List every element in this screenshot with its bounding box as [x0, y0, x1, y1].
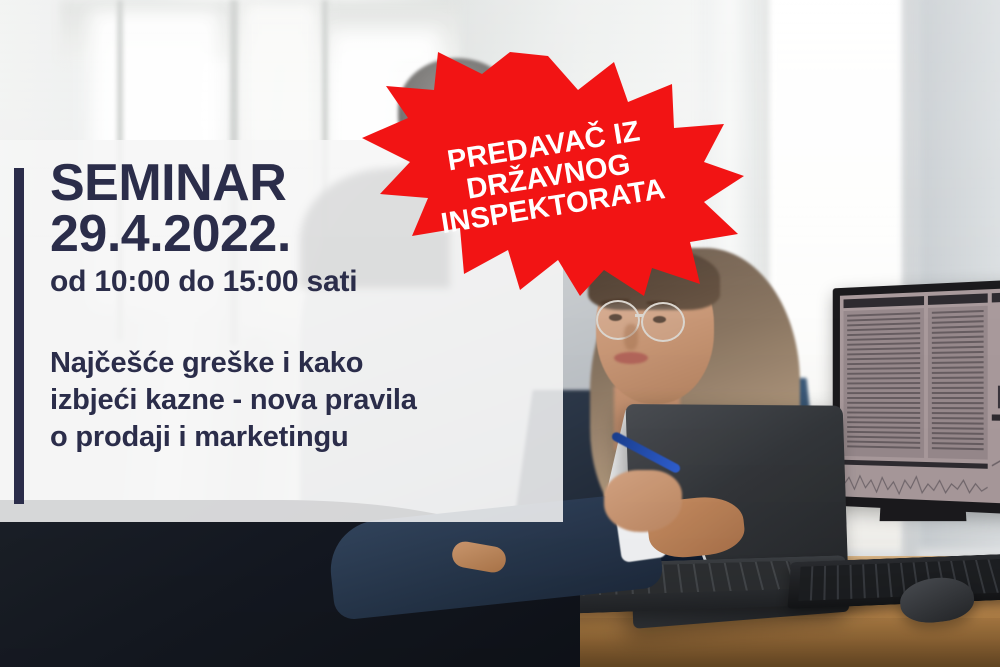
monitor-stand [880, 507, 967, 521]
promo-banner: SEMINAR 29.4.2022. od 10:00 do 15:00 sat… [0, 0, 1000, 667]
woman-hand [604, 470, 682, 532]
eyeglasses-lens-right [641, 302, 685, 342]
starburst-badge: PREDAVAČ IZ DRŽAVNOG INSPEKTORATA [352, 52, 744, 296]
accent-bar [14, 168, 24, 504]
eyeglasses-bridge [635, 314, 643, 317]
woman-lips [614, 352, 648, 364]
seminar-subtitle: Najčešće greške i kako izbjeći kazne - n… [50, 345, 545, 456]
woman-nose [624, 324, 638, 350]
monitor-sparkline [844, 474, 988, 497]
monitor-charts [833, 279, 1000, 514]
monitor-line-chart [992, 433, 1000, 472]
starburst-shape [362, 52, 744, 296]
monitor-screen [840, 288, 1000, 505]
